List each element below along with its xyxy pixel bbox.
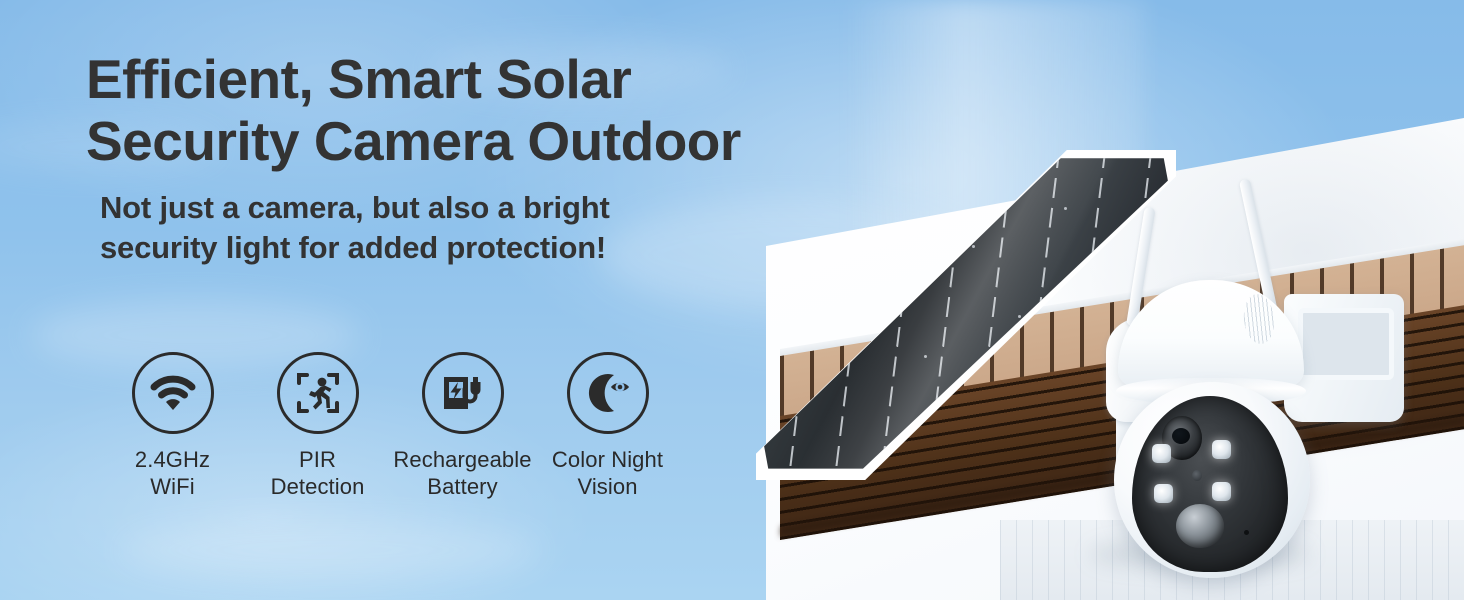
wifi-icon — [132, 352, 214, 434]
copy-block: Efficient, Smart Solar Security Camera O… — [86, 48, 846, 268]
feature-label: Rechargeable Battery — [393, 446, 531, 500]
ptz-security-camera — [1096, 182, 1386, 572]
page-title: Efficient, Smart Solar Security Camera O… — [86, 48, 846, 172]
feature-item-wifi: 2.4GHz WiFi — [100, 352, 245, 500]
feature-item-battery: Rechargeable Battery — [390, 352, 535, 500]
feature-item-night-vision: Color Night Vision — [535, 352, 680, 500]
feature-label: Color Night Vision — [552, 446, 663, 500]
feature-label: 2.4GHz WiFi — [135, 446, 210, 500]
microphone-hole-icon — [1244, 530, 1249, 535]
subtitle: Not just a camera, but also a bright sec… — [100, 188, 846, 268]
camera-pan-housing — [1118, 280, 1304, 386]
charging-battery-icon — [422, 352, 504, 434]
cloud-wisp — [120, 520, 540, 580]
pir-sensor-dome — [1176, 504, 1224, 548]
light-sensor-icon — [1192, 470, 1202, 481]
led-spotlight — [1154, 484, 1173, 503]
moon-eye-icon — [567, 352, 649, 434]
product-banner: Efficient, Smart Solar Security Camera O… — [0, 0, 1464, 600]
led-spotlight — [1152, 444, 1171, 463]
feature-label: PIR Detection — [271, 446, 365, 500]
feature-item-pir: PIR Detection — [245, 352, 390, 500]
motion-person-icon — [277, 352, 359, 434]
led-spotlight — [1212, 482, 1231, 501]
feature-list: 2.4GHz WiFi PIR Detection — [100, 352, 680, 500]
led-spotlight — [1212, 440, 1231, 459]
